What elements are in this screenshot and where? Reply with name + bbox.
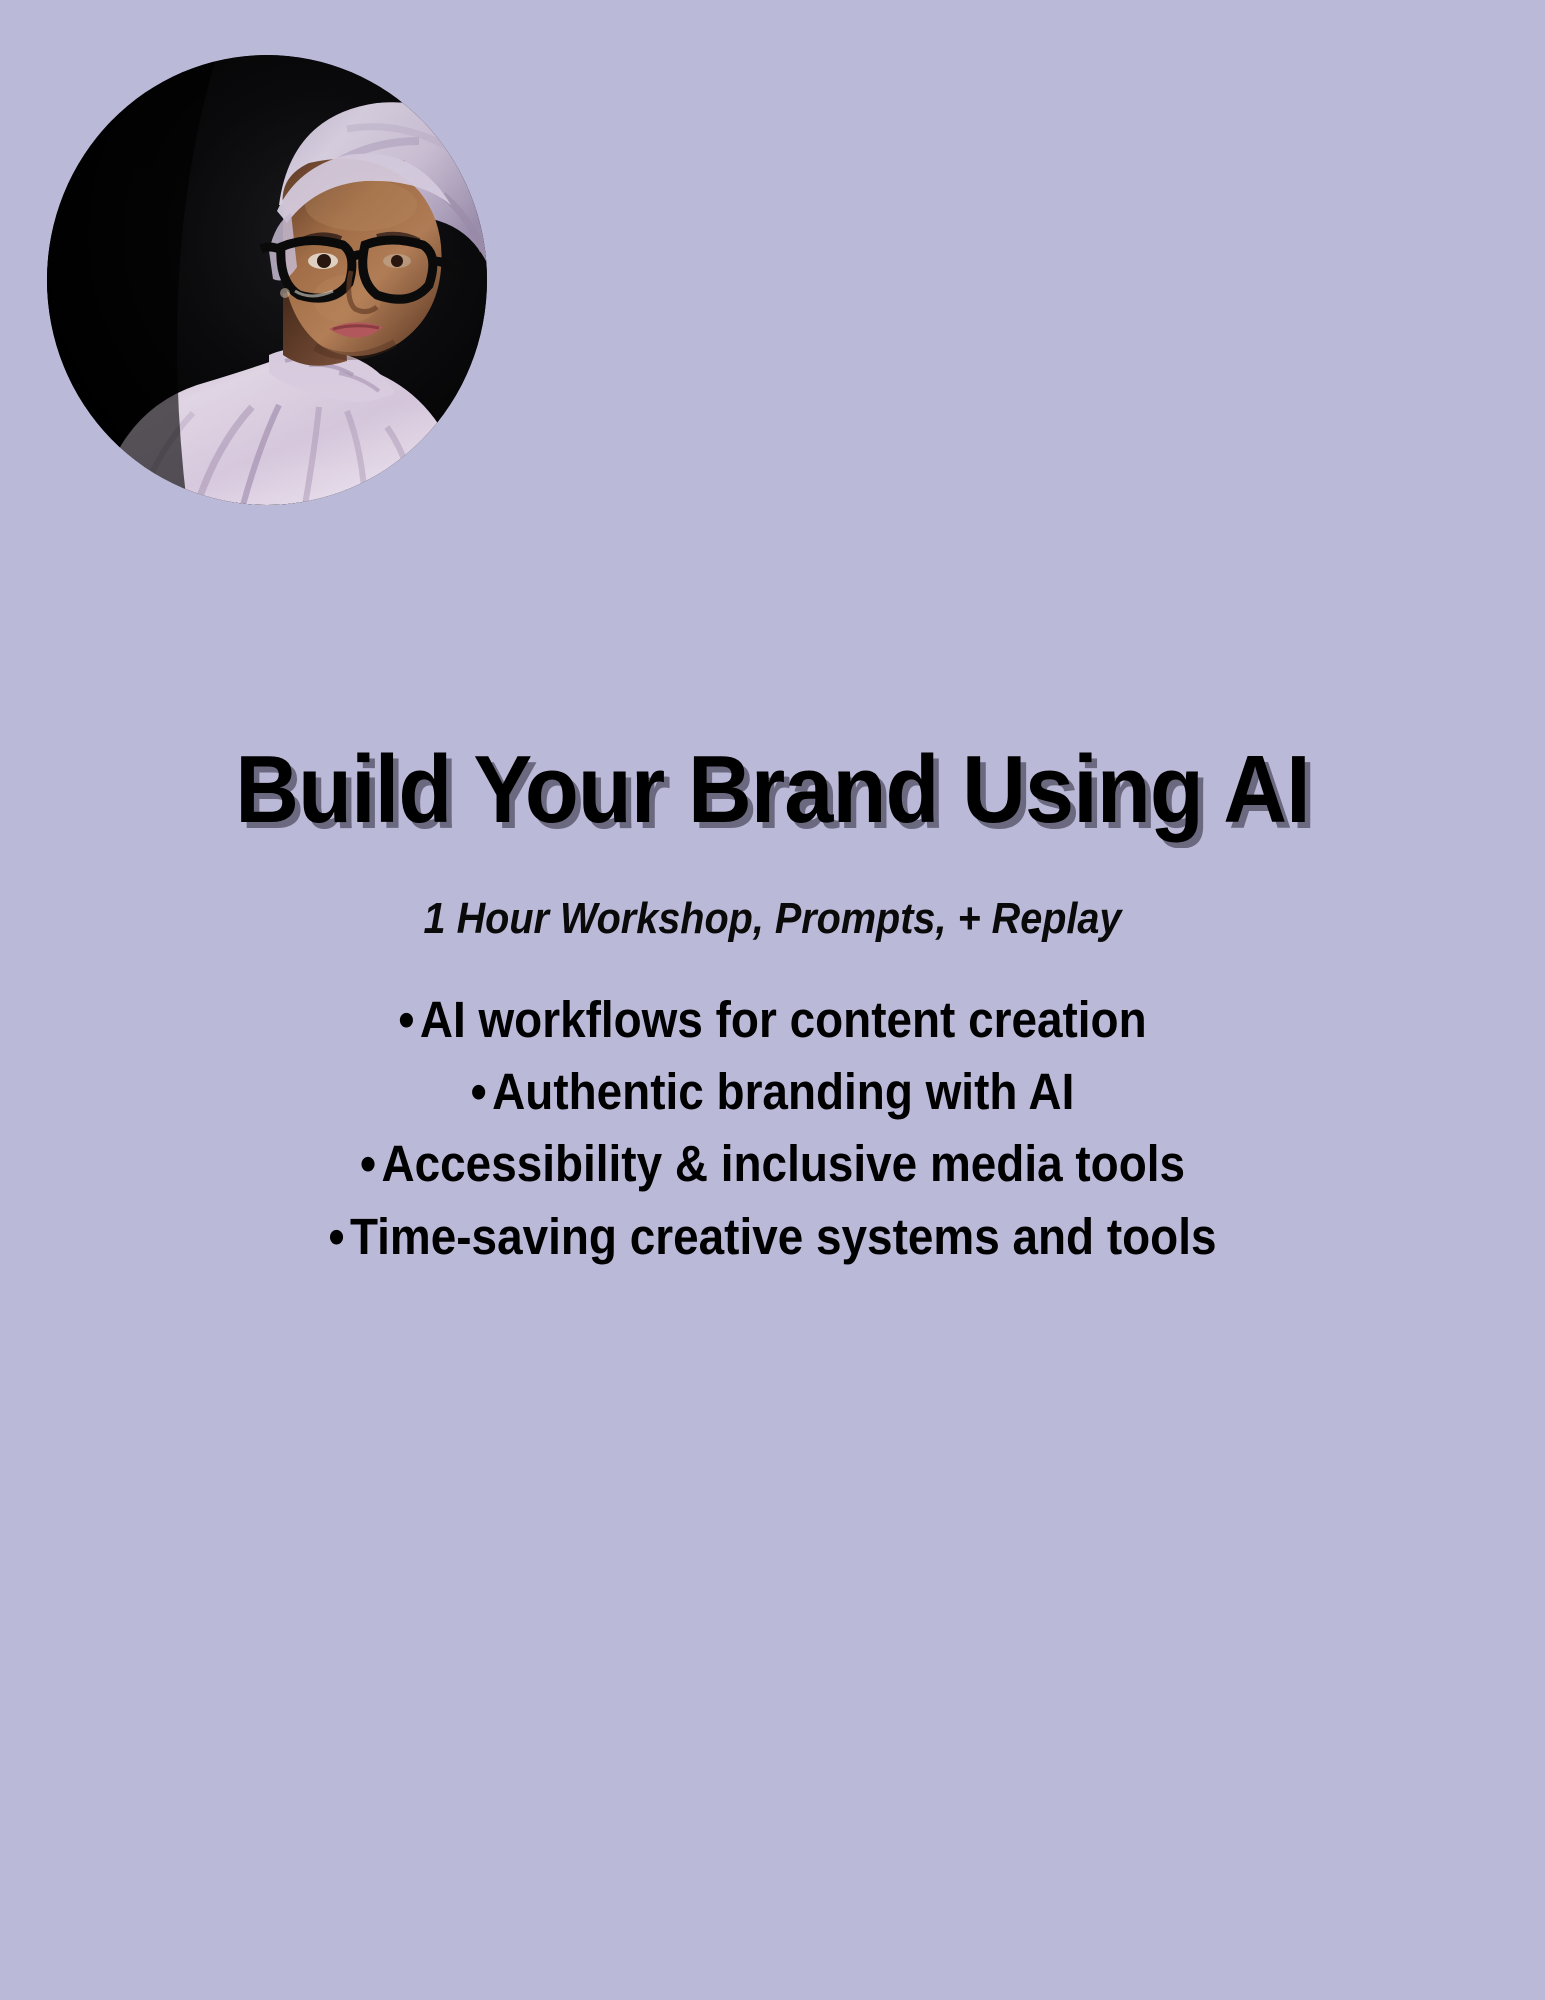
list-item-label: AI workflows for content creation xyxy=(420,991,1147,1048)
list-item-label: Authentic branding with AI xyxy=(492,1063,1074,1120)
bullet-dot-icon: • xyxy=(328,1201,344,1273)
bullet-dot-icon: • xyxy=(360,1128,376,1200)
flyer-page: Build Your Brand Using AI 1 Hour Worksho… xyxy=(0,0,1545,2000)
page-title: Build Your Brand Using AI xyxy=(62,740,1483,841)
list-item: •Authentic branding with AI xyxy=(77,1056,1468,1128)
list-item: •Time-saving creative systems and tools xyxy=(77,1201,1468,1273)
list-item: •AI workflows for content creation xyxy=(77,984,1468,1056)
list-item: •Accessibility & inclusive media tools xyxy=(77,1128,1468,1200)
bullet-dot-icon: • xyxy=(398,984,414,1056)
bullet-dot-icon: • xyxy=(471,1056,487,1128)
flyer-content: Build Your Brand Using AI 1 Hour Worksho… xyxy=(0,740,1545,1273)
portrait-avatar xyxy=(47,55,487,505)
subtitle: 1 Hour Workshop, Prompts, + Replay xyxy=(77,893,1468,946)
feature-list: •AI workflows for content creation •Auth… xyxy=(0,984,1545,1274)
list-item-label: Accessibility & inclusive media tools xyxy=(381,1135,1185,1192)
list-item-label: Time-saving creative systems and tools xyxy=(350,1208,1217,1265)
portrait-photo xyxy=(47,55,487,505)
